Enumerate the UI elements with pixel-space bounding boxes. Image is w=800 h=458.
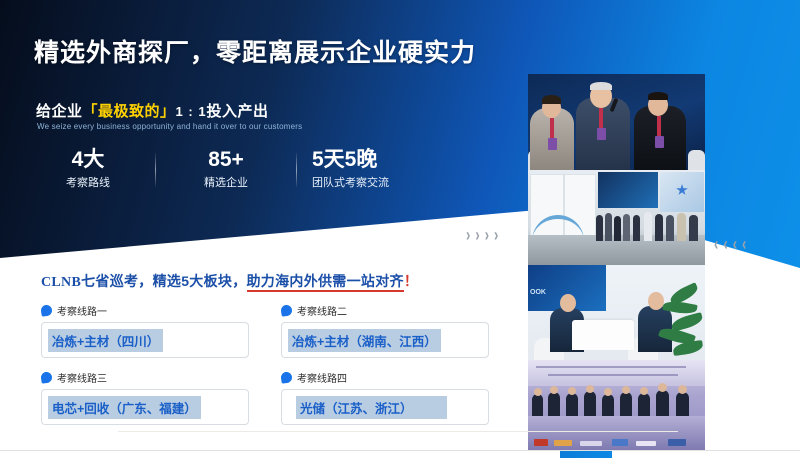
person-head <box>640 387 648 395</box>
bottom-border <box>0 450 800 451</box>
badge-shape <box>597 128 606 140</box>
person-hair <box>648 92 668 100</box>
badge-shape <box>548 138 557 150</box>
route-label-2: 考察线路二 <box>281 303 489 318</box>
stat-label: 考察路线 <box>66 174 110 190</box>
route-label-3: 考察线路三 <box>41 370 249 385</box>
stat-item-routes: 4大 考察路线 <box>36 148 140 190</box>
stat-label: 团队式考察交流 <box>312 174 389 190</box>
route-block-1: 考察线路一 冶炼+主材（四川） <box>41 303 249 358</box>
stat-divider <box>155 153 156 187</box>
headline-middle: 七省巡考，精选5大板块， <box>81 273 246 289</box>
photo-panel-discussion <box>528 74 705 170</box>
route-card-text: 冶炼+主材（四川） <box>48 329 163 352</box>
model-piece <box>668 439 686 446</box>
photo-model-viewing <box>528 360 705 450</box>
model-piece <box>612 439 628 446</box>
lanyard-shape <box>657 116 661 138</box>
crowd-shape <box>655 214 663 241</box>
model-piece <box>534 439 548 446</box>
chevron-left-icon: ‹ <box>723 234 727 253</box>
photo-exhibition-hall <box>528 170 705 265</box>
subtitle-prefix: 给企业 <box>36 103 83 120</box>
route-block-3: 考察线路三 电芯+回收（广东、福建） <box>41 370 249 425</box>
person-head <box>550 386 558 394</box>
subtitle-ratio: 1 : 1 <box>176 104 207 119</box>
crowd-shape <box>605 213 612 241</box>
model-piece <box>554 440 572 446</box>
chevron-right-decoration: › › › › <box>466 228 498 241</box>
badge-shape <box>655 136 664 148</box>
person-hair <box>542 95 561 104</box>
location-pin-icon <box>40 304 52 316</box>
person-head <box>586 385 594 393</box>
route-card-2[interactable]: 冶炼+主材（湖南、江西） <box>281 322 489 358</box>
person-head <box>560 294 576 312</box>
chevron-left-icon: ‹ <box>733 234 737 253</box>
chevron-right-icon: › <box>494 225 498 244</box>
headline-brand: CLNB <box>41 275 81 290</box>
route-block-4: 考察线路四 光储（江苏、浙江） <box>281 370 489 425</box>
chevron-right-icon: › <box>485 225 489 244</box>
headline-underlined: 助力海内外供需一站对齐 <box>247 273 404 292</box>
person-head <box>658 383 667 392</box>
lanyard-shape <box>599 108 603 130</box>
ceiling-beam <box>536 366 686 368</box>
chevron-left-icon: ‹ <box>714 234 718 253</box>
content-divider <box>118 431 678 432</box>
person-head <box>604 388 612 396</box>
route-card-text: 冶炼+主材（湖南、江西） <box>288 329 441 352</box>
model-piece <box>580 441 602 446</box>
stat-item-companies: 85+ 精选企业 <box>171 148 281 190</box>
route-card-3[interactable]: 电芯+回收（广东、福建） <box>41 389 249 425</box>
promo-slide: 精选外商探厂，零距离展示企业硬实力 给企业「最极致的」1 : 1投入产出 We … <box>0 0 800 458</box>
location-pin-icon <box>280 371 292 383</box>
page-title: 精选外商探厂，零距离展示企业硬实力 <box>34 33 476 69</box>
person-head <box>568 387 576 395</box>
stat-item-duration: 5天5晚 团队式考察交流 <box>312 148 432 190</box>
person-head <box>678 385 687 394</box>
stat-number: 4大 <box>72 148 105 171</box>
crowd-shape <box>614 216 621 241</box>
crowd-shape <box>689 215 698 241</box>
model-piece <box>636 441 656 446</box>
crowd-shape <box>623 214 630 241</box>
route-card-1[interactable]: 冶炼+主材（四川） <box>41 322 249 358</box>
subtitle-line: 给企业「最极致的」1 : 1投入产出 <box>36 100 269 121</box>
stats-row: 4大 考察路线 85+ 精选企业 5天5晚 团队式考察交流 <box>36 148 432 190</box>
person-head <box>622 386 630 394</box>
crowd-shape <box>596 215 603 241</box>
route-block-2: 考察线路二 冶炼+主材（湖南、江西） <box>281 303 489 358</box>
person-head <box>534 388 542 396</box>
stat-divider <box>296 153 297 187</box>
route-label-4: 考察线路四 <box>281 370 489 385</box>
stat-number: 5天5晚 <box>312 148 377 171</box>
headline-exclamation: ！ <box>404 273 418 289</box>
subtitle-suffix: 投入产出 <box>207 103 269 120</box>
plant-shape <box>649 284 705 360</box>
route-label-text: 考察线路一 <box>57 303 107 318</box>
chevron-left-icon: ‹ <box>742 234 746 253</box>
crowd-shape <box>677 213 686 241</box>
route-card-text: 光储（江苏、浙江） <box>296 396 447 419</box>
chair-shape <box>688 150 705 170</box>
stat-label: 精选企业 <box>204 174 248 190</box>
ceiling-shape <box>528 360 705 386</box>
section-headline: CLNB七省巡考，精选5大板块，助力海内外供需一站对齐！ <box>41 271 418 291</box>
person-hair <box>590 82 612 90</box>
subtitle-highlight: 「最极致的」 <box>83 103 176 120</box>
ceiling-beam <box>548 374 678 376</box>
route-label-1: 考察线路一 <box>41 303 249 318</box>
chevron-right-icon: › <box>475 225 479 244</box>
crowd-shape <box>644 212 652 241</box>
subtitle-english: We seize every business opportunity and … <box>37 122 302 131</box>
photo-stack: OOK <box>528 74 705 450</box>
route-card-text: 电芯+回收（广东、福建） <box>48 396 201 419</box>
stat-number: 85+ <box>208 148 244 171</box>
backdrop-text: OOK <box>530 289 546 296</box>
crowd-shape <box>633 215 640 241</box>
route-card-4[interactable]: 光储（江苏、浙江） <box>281 389 489 425</box>
table-shape <box>572 320 634 350</box>
route-label-text: 考察线路三 <box>57 370 107 385</box>
route-label-text: 考察线路四 <box>297 370 347 385</box>
crowd-shape <box>666 215 674 241</box>
photo-delegates-meeting: OOK <box>528 265 705 360</box>
chevron-right-icon: › <box>466 225 470 244</box>
chevron-left-decoration: ‹ ‹ ‹ ‹ <box>714 237 746 250</box>
display-screen <box>598 172 658 208</box>
route-label-text: 考察线路二 <box>297 303 347 318</box>
route-grid: 考察线路一 冶炼+主材（四川） 考察线路二 冶炼+主材（湖南、江西） 考察线路三… <box>41 303 489 425</box>
location-pin-icon <box>40 371 52 383</box>
location-pin-icon <box>280 304 292 316</box>
lanyard-shape <box>550 118 554 140</box>
